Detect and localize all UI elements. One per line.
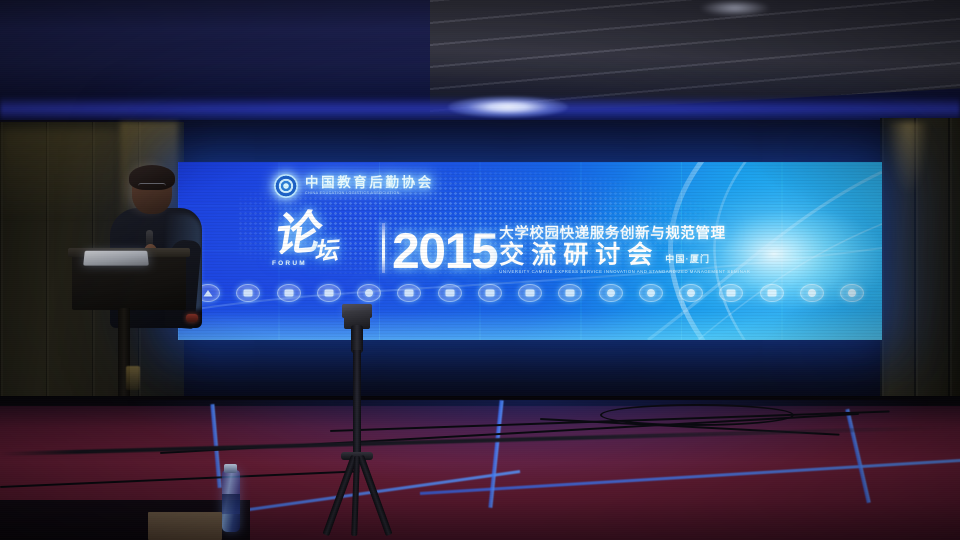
presenter-glasses: [138, 183, 166, 191]
lectern-plaque: [126, 366, 140, 390]
tripod-neck: [351, 325, 363, 353]
conference-hall-photo: 中国教育后勤协会 CHINA EDUCATION LOGISTICS ASSOC…: [0, 0, 960, 540]
name-placard: [148, 512, 222, 540]
led-vignette: [178, 162, 882, 340]
ceiling-spotlight-secondary: [700, 0, 770, 16]
right-wall-warm-light: [888, 122, 928, 192]
water-bottle-cap: [224, 464, 237, 473]
laptop-on-lectern: [83, 251, 149, 266]
presenter-wristband: [186, 314, 198, 322]
ceiling-spotlight: [448, 96, 568, 118]
tripod-center-column: [353, 350, 361, 456]
led-video-wall: 中国教育后勤协会 CHINA EDUCATION LOGISTICS ASSOC…: [178, 162, 882, 340]
left-wall-warm-light-spill: [0, 128, 120, 218]
water-bottle-label: [222, 494, 240, 514]
floor-cable-4: [600, 404, 794, 426]
